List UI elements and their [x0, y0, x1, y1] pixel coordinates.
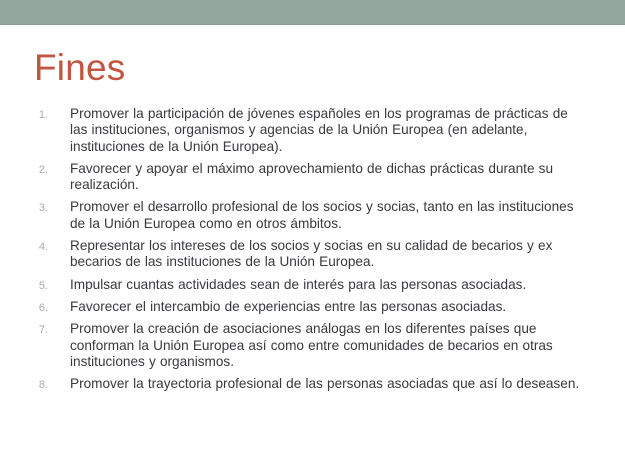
list-item: 4. Representar los intereses de los soci…	[0, 238, 625, 271]
list-item: 2. Favorecer y apoyar el máximo aprovech…	[0, 161, 625, 194]
list-item: 1. Promover la participación de jóvenes …	[0, 106, 625, 155]
list-item-text: Promover la trayectoria profesional de l…	[70, 376, 587, 392]
list-item-number: 2.	[0, 162, 48, 178]
list-item-text: Impulsar cuantas actividades sean de int…	[70, 277, 587, 293]
list-item-number: 4.	[0, 239, 48, 255]
list-item-number: 6.	[0, 300, 48, 316]
list-item-number: 7.	[0, 322, 48, 338]
numbered-list: 1. Promover la participación de jóvenes …	[0, 106, 625, 392]
list-item-number: 8.	[0, 377, 48, 393]
list-item: 7. Promover la creación de asociaciones …	[0, 321, 625, 370]
list-item-text: Favorecer y apoyar el máximo aprovechami…	[70, 161, 587, 194]
list-item-number: 1.	[0, 107, 48, 123]
list-item-text: Promover la creación de asociaciones aná…	[70, 321, 587, 370]
slide-header-band	[0, 0, 625, 25]
list-item-number: 5.	[0, 278, 48, 294]
list-item-text: Representar los intereses de los socios …	[70, 238, 587, 271]
list-item-number: 3.	[0, 200, 48, 216]
slide-content: 1. Promover la participación de jóvenes …	[0, 106, 625, 398]
list-item: 8. Promover la trayectoria profesional d…	[0, 376, 625, 392]
list-item-text: Promover la participación de jóvenes esp…	[70, 106, 587, 155]
list-item: 3. Promover el desarrollo profesional de…	[0, 199, 625, 232]
list-item: 5. Impulsar cuantas actividades sean de …	[0, 277, 625, 293]
list-item-text: Promover el desarrollo profesional de lo…	[70, 199, 587, 232]
list-item: 6. Favorecer el intercambio de experienc…	[0, 299, 625, 315]
list-item-text: Favorecer el intercambio de experiencias…	[70, 299, 587, 315]
page-title: Fines	[34, 47, 125, 89]
presentation-slide: Fines 1. Promover la participación de jó…	[0, 0, 625, 469]
